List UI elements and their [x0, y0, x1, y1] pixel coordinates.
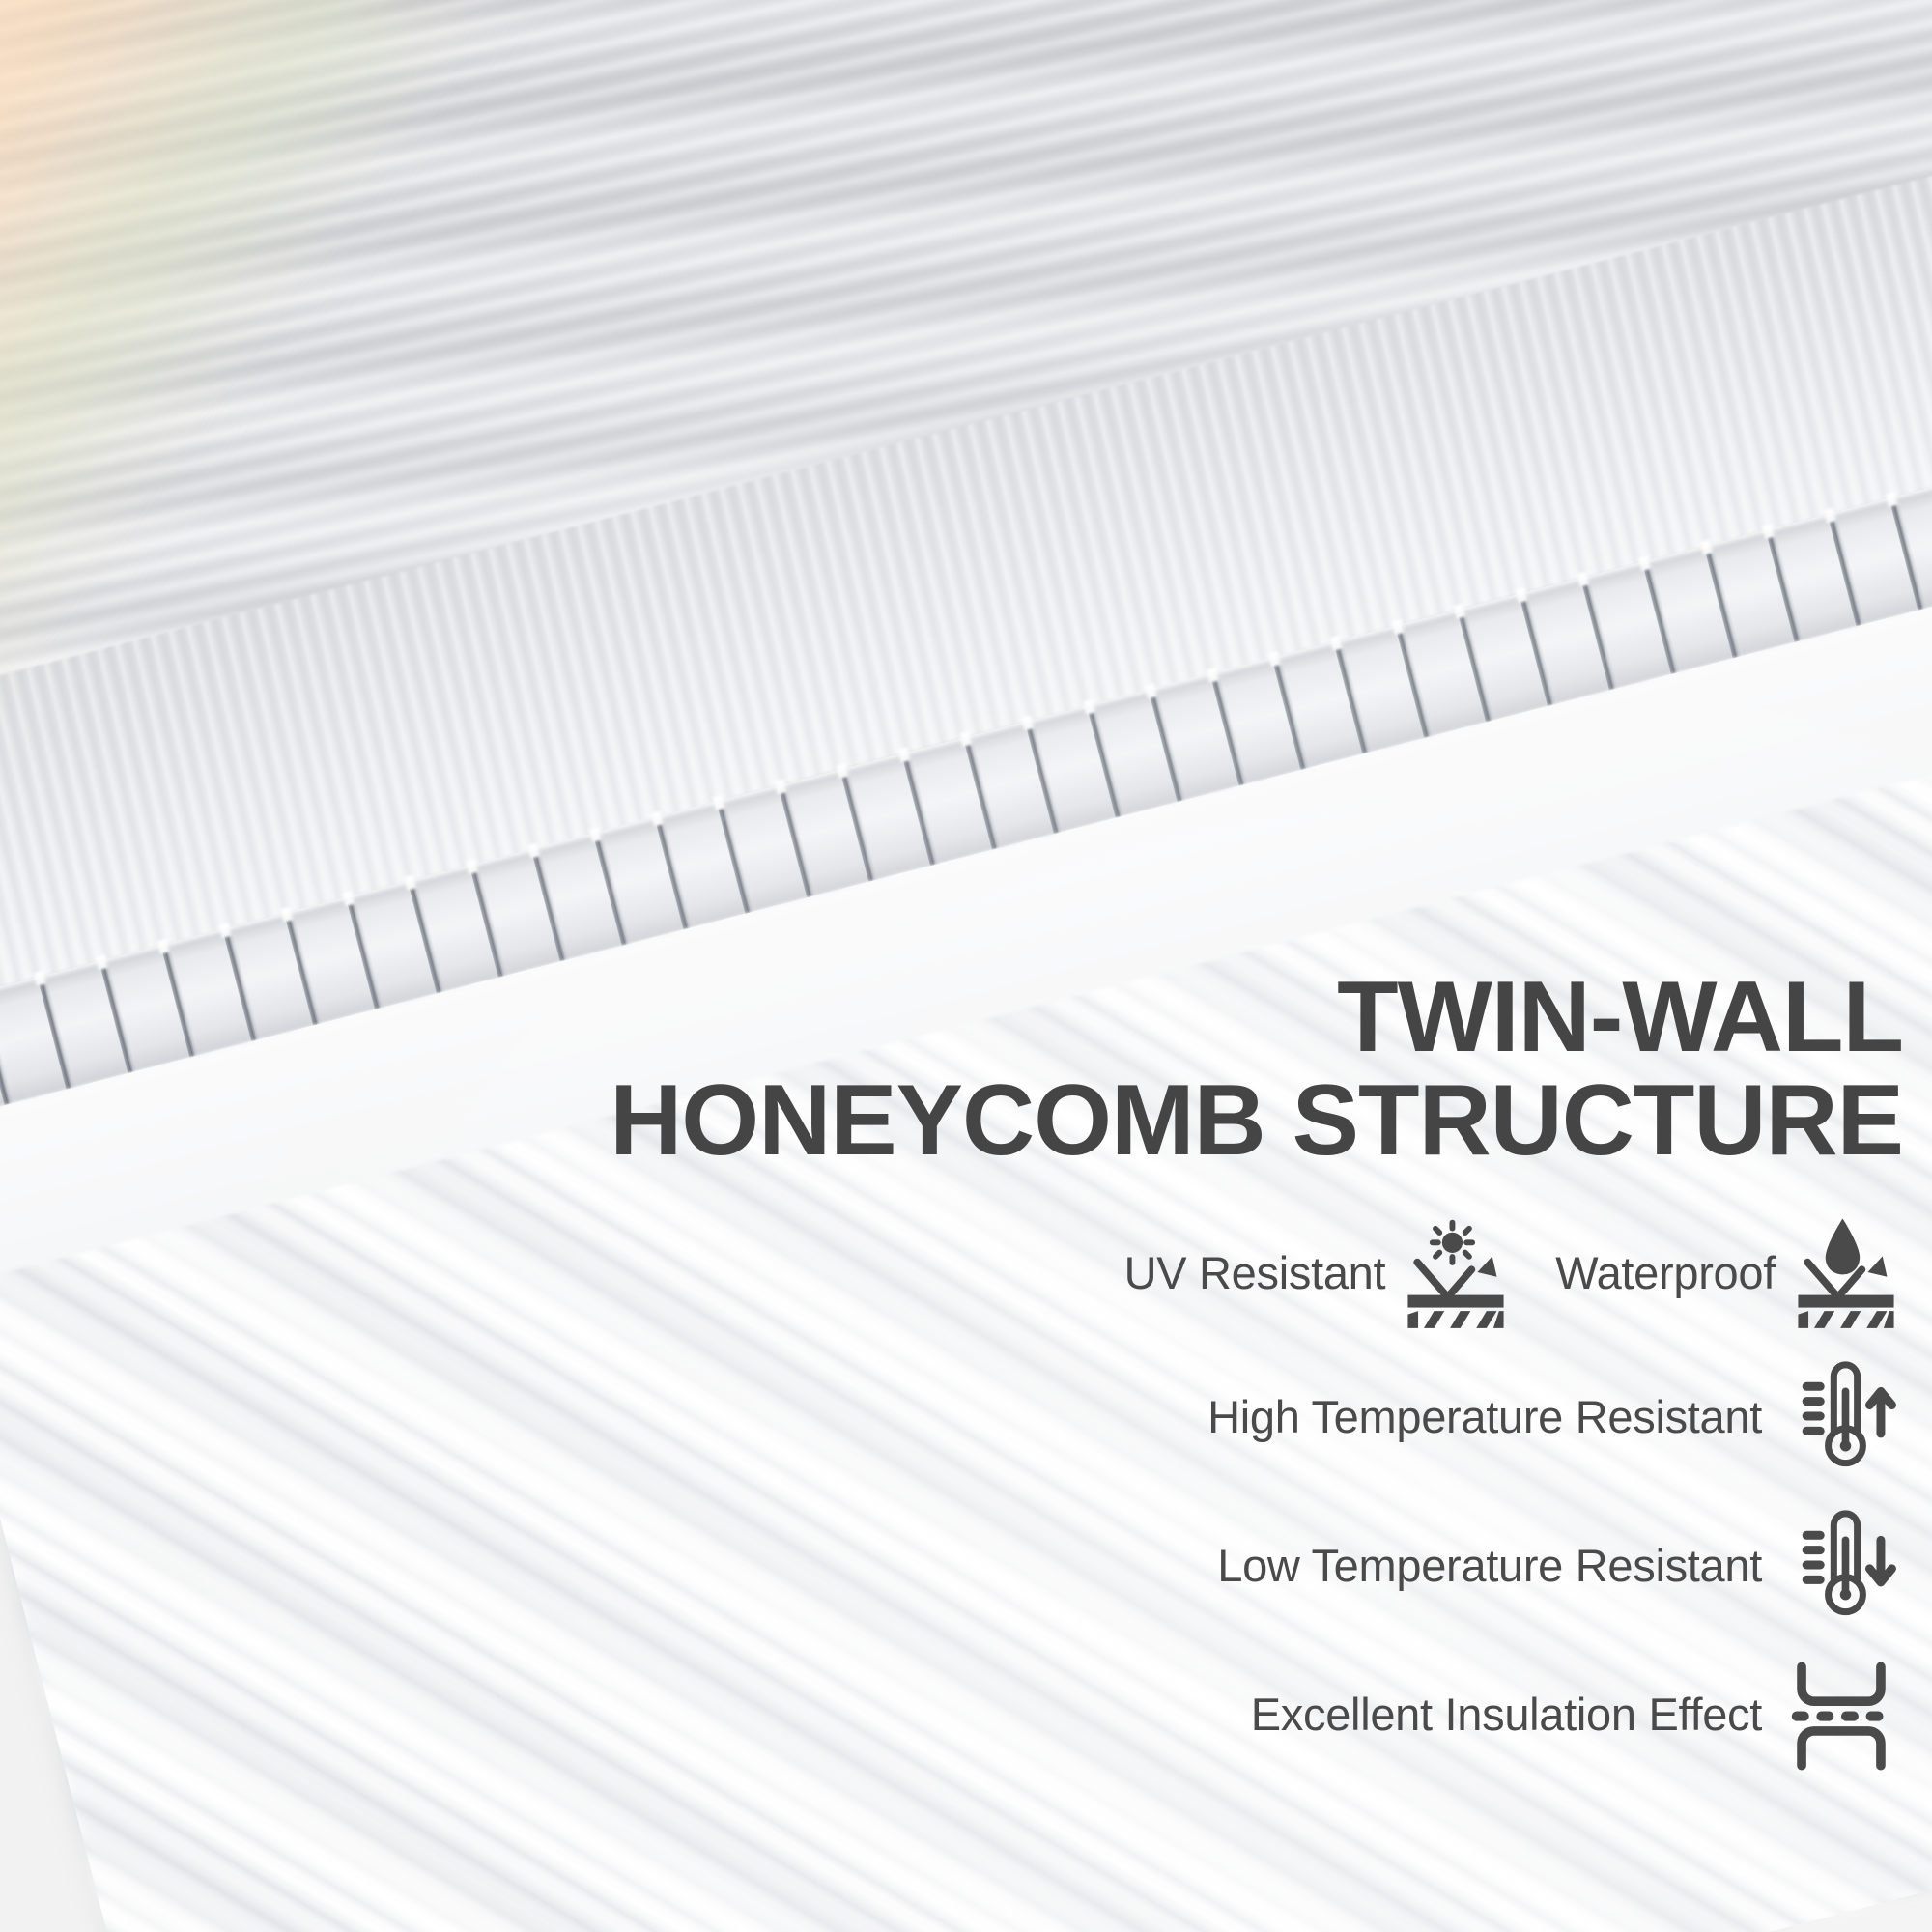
thermometer-down-icon	[1779, 1503, 1903, 1627]
feature-item-waterproof: Waterproof	[1555, 1215, 1903, 1329]
feature-item-uv-resistant: UV Resistant	[1124, 1215, 1514, 1329]
title-line-1: TWIN-WALL	[570, 966, 1903, 1069]
feature-row-top: UV Resistant	[570, 1215, 1903, 1329]
feature-overlay: TWIN-WALL HONEYCOMB STRUCTURE UV Resista…	[570, 966, 1903, 1801]
insulation-layers-icon	[1779, 1652, 1903, 1776]
feature-label-uv-resistant: UV Resistant	[1124, 1246, 1386, 1299]
waterproof-icon	[1789, 1215, 1903, 1329]
thermometer-up-icon	[1779, 1354, 1903, 1478]
product-feature-image: TWIN-WALL HONEYCOMB STRUCTURE UV Resista…	[0, 0, 1932, 1932]
title-line-2: HONEYCOMB STRUCTURE	[570, 1069, 1903, 1173]
feature-row-insulation: Excellent Insulation Effect	[570, 1652, 1903, 1776]
feature-row-low-temp: Low Temperature Resistant	[570, 1503, 1903, 1627]
feature-label-waterproof: Waterproof	[1555, 1246, 1776, 1299]
feature-row-high-temp: High Temperature Resistant	[570, 1354, 1903, 1478]
uv-resistant-icon	[1399, 1215, 1513, 1329]
feature-label-low-temperature: Low Temperature Resistant	[1217, 1539, 1762, 1592]
feature-label-high-temperature: High Temperature Resistant	[1207, 1390, 1762, 1443]
page-title: TWIN-WALL HONEYCOMB STRUCTURE	[570, 966, 1903, 1173]
feature-list: UV Resistant	[570, 1215, 1903, 1776]
feature-label-insulation: Excellent Insulation Effect	[1251, 1688, 1762, 1741]
